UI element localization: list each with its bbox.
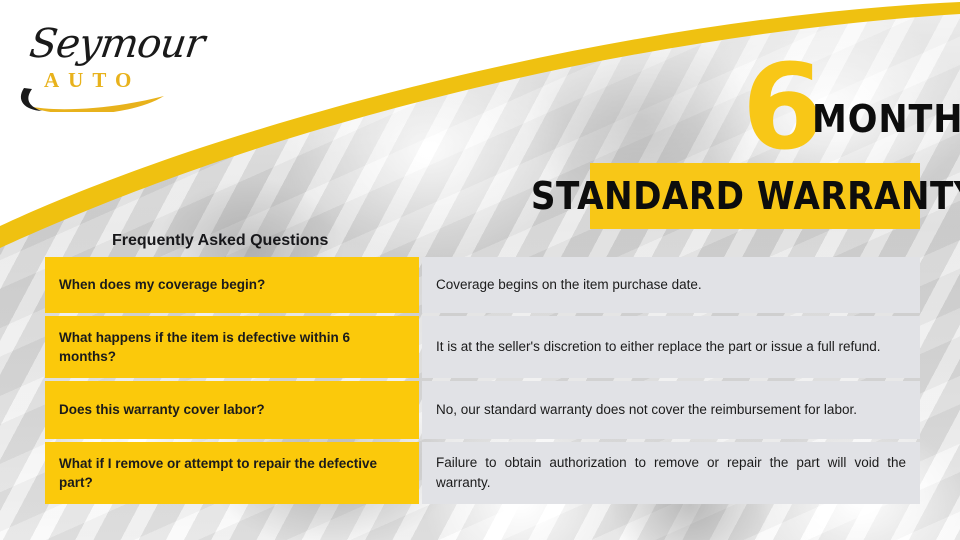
faq-question-cell: When does my coverage begin? — [45, 257, 419, 313]
faq-heading: Frequently Asked Questions — [112, 231, 328, 250]
faq-table: When does my coverage begin? Coverage be… — [45, 257, 920, 504]
faq-question-text: Does this warranty cover labor? — [59, 400, 265, 419]
faq-question-cell: What if I remove or attempt to repair th… — [45, 442, 419, 504]
faq-answer-cell: No, our standard warranty does not cover… — [422, 381, 920, 439]
faq-question-cell: Does this warranty cover labor? — [45, 381, 419, 439]
table-row: What if I remove or attempt to repair th… — [45, 442, 920, 504]
faq-answer-text: Coverage begins on the item purchase dat… — [436, 275, 702, 295]
table-row: Does this warranty cover labor? No, our … — [45, 381, 920, 439]
faq-answer-text: It is at the seller's discretion to eith… — [436, 337, 881, 357]
logo-wordmark: Seymour — [27, 24, 206, 64]
standard-warranty-banner: STANDARD WARRANTY — [590, 163, 920, 229]
faq-question-text: What if I remove or attempt to repair th… — [59, 454, 405, 492]
faq-question-cell: What happens if the item is defective wi… — [45, 316, 419, 378]
standard-warranty-banner-text: STANDARD WARRANTY — [531, 177, 960, 215]
warranty-slide: Seymour AUTO 6 MONTH STANDARD WARRANTY F… — [0, 0, 960, 540]
warranty-duration-unit: MONTH — [812, 100, 960, 138]
faq-answer-text: Failure to obtain authorization to remov… — [436, 453, 906, 492]
faq-answer-cell: Coverage begins on the item purchase dat… — [422, 257, 920, 313]
table-row: When does my coverage begin? Coverage be… — [45, 257, 920, 313]
faq-answer-cell: It is at the seller's discretion to eith… — [422, 316, 920, 378]
faq-answer-cell: Failure to obtain authorization to remov… — [422, 442, 920, 504]
logo-sub-wordmark: AUTO — [44, 70, 140, 91]
warranty-duration-number: 6 — [742, 48, 822, 166]
table-row: What happens if the item is defective wi… — [45, 316, 920, 378]
faq-question-text: When does my coverage begin? — [59, 275, 265, 294]
seymour-auto-logo: Seymour AUTO — [14, 18, 194, 110]
faq-question-text: What happens if the item is defective wi… — [59, 328, 405, 366]
faq-answer-text: No, our standard warranty does not cover… — [436, 400, 857, 420]
